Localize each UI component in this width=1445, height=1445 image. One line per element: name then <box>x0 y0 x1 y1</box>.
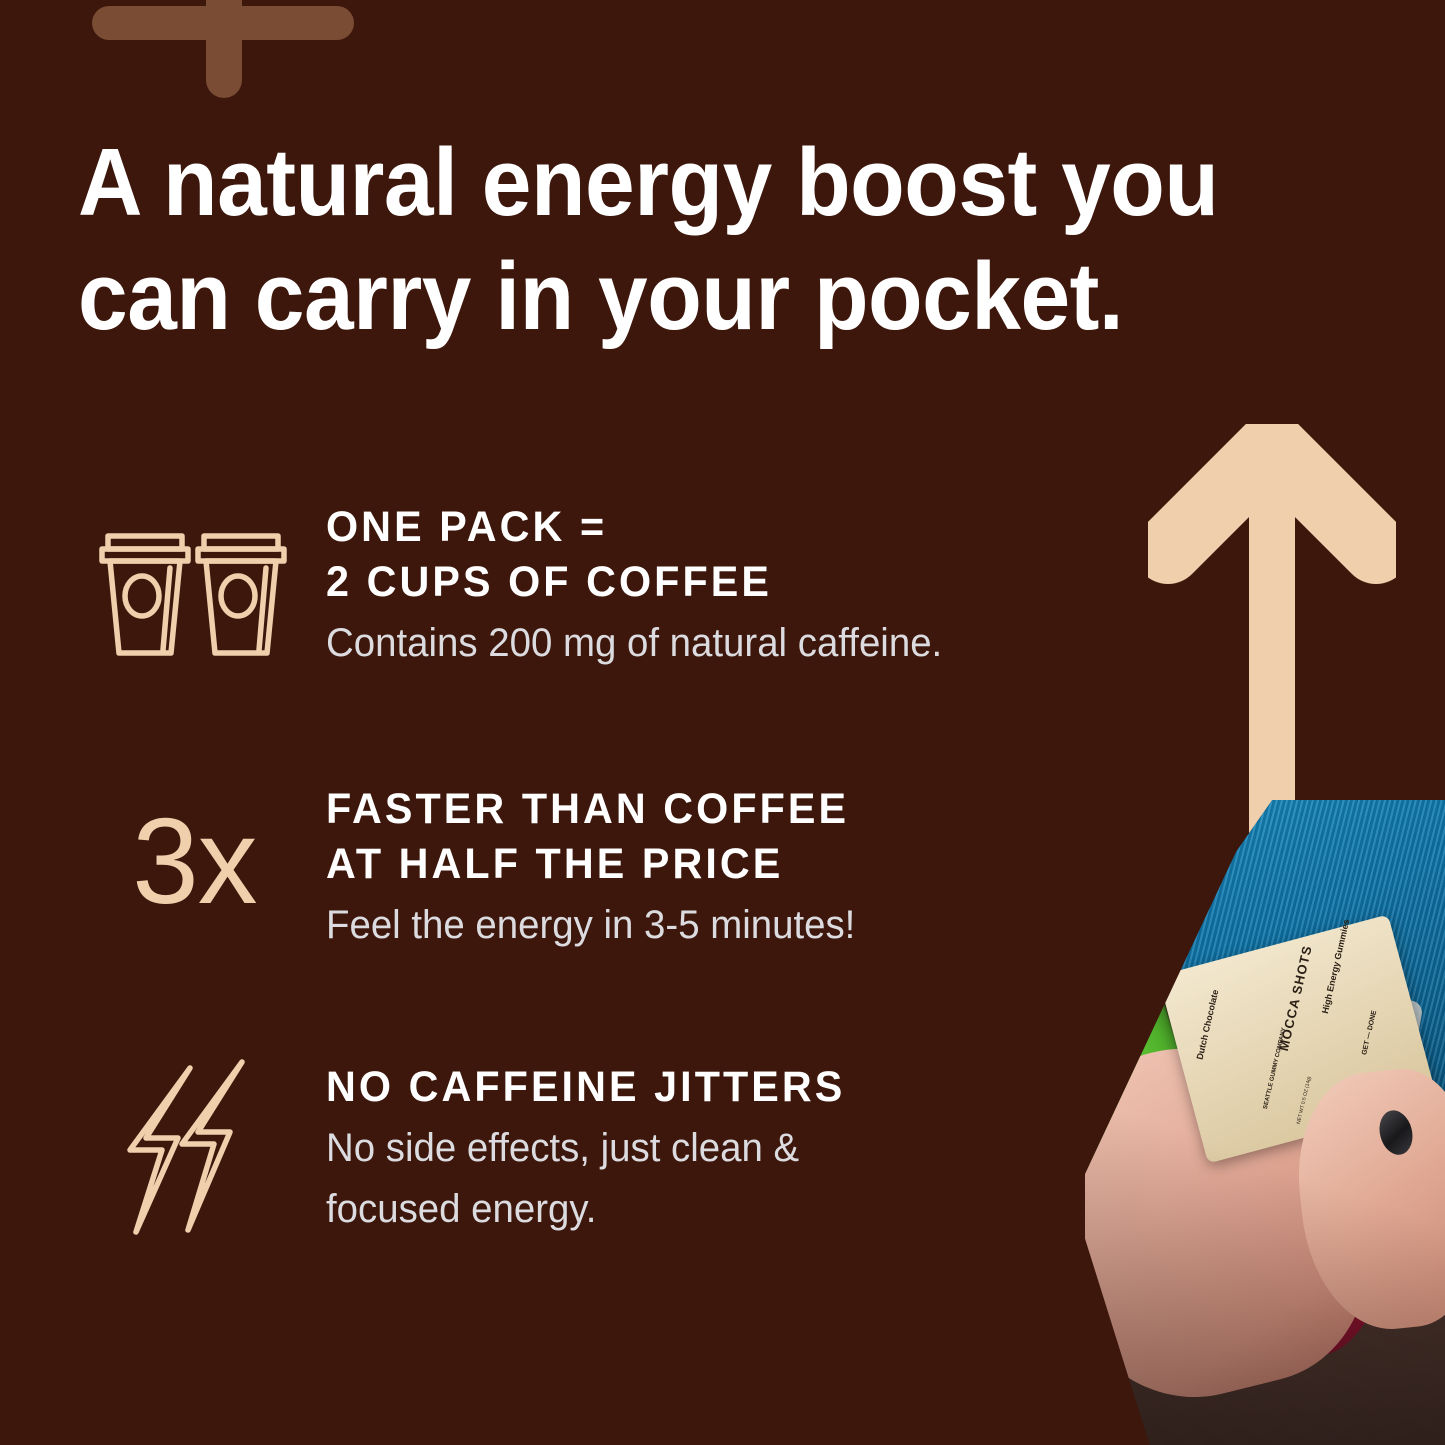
3x-badge-label: 3x <box>132 800 256 922</box>
feature-one-pack-heading-line1: ONE PACK = <box>326 500 1096 555</box>
feature-no-jitters-subtext-line1: No side effects, just clean & <box>326 1121 1096 1176</box>
feature-no-jitters-copy: NO CAFFEINE JITTERS No side effects, jus… <box>300 1046 1128 1237</box>
feature-faster-heading-line2: AT HALF THE PRICE <box>326 837 1096 892</box>
plus-icon <box>92 0 354 98</box>
feature-no-jitters-heading: NO CAFFEINE JITTERS <box>326 1060 1096 1115</box>
feature-faster-heading-line1: FASTER THAN COFFEE <box>326 782 1096 837</box>
photo-vignette <box>1085 800 1445 1445</box>
feature-faster-copy: FASTER THAN COFFEE AT HALF THE PRICE Fee… <box>300 782 1128 953</box>
double-lightning-bolt-icon <box>88 1046 300 1242</box>
feature-one-pack-copy: ONE PACK = 2 CUPS OF COFFEE Contains 200… <box>300 500 1128 671</box>
product-photo-inner: ULTIMATE DIRECTION Dutch Chocolate MOCCA… <box>1085 800 1445 1445</box>
feature-one-pack-heading-line2: 2 CUPS OF COFFEE <box>326 555 1096 610</box>
promo-canvas: A natural energy boost you can carry in … <box>0 0 1445 1445</box>
two-coffee-cups-icon <box>88 500 300 668</box>
feature-no-jitters-subtext-line2: focused energy. <box>326 1182 1096 1237</box>
page-title: A natural energy boost you can carry in … <box>78 126 1306 354</box>
feature-faster-than-coffee: 3x FASTER THAN COFFEE AT HALF THE PRICE … <box>88 782 1128 953</box>
plus-icon-vertical-bar <box>206 0 242 98</box>
feature-faster-subtext: Feel the energy in 3-5 minutes! <box>326 898 1096 953</box>
feature-no-jitters: NO CAFFEINE JITTERS No side effects, jus… <box>88 1046 1128 1242</box>
product-photo: ULTIMATE DIRECTION Dutch Chocolate MOCCA… <box>1085 800 1445 1445</box>
feature-one-pack-subtext: Contains 200 mg of natural caffeine. <box>326 616 1096 671</box>
feature-one-pack: ONE PACK = 2 CUPS OF COFFEE Contains 200… <box>88 500 1128 671</box>
3x-badge: 3x <box>88 782 300 922</box>
